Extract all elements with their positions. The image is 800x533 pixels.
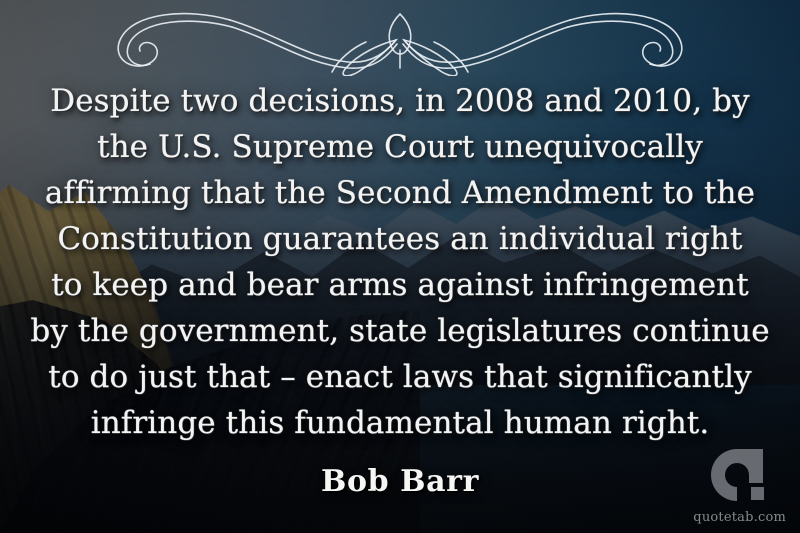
quote-author: Bob Barr bbox=[321, 464, 479, 499]
quote-line: Despite two decisions, in 2008 and 2010,… bbox=[20, 78, 780, 124]
quote-content: Despite two decisions, in 2008 and 2010,… bbox=[0, 0, 800, 533]
quote-line: to keep and bear arms against infringeme… bbox=[20, 262, 780, 308]
quote-line: Constitution guarantees an individual ri… bbox=[20, 216, 780, 262]
quote-image-canvas: Despite two decisions, in 2008 and 2010,… bbox=[0, 0, 800, 533]
quotetab-watermark[interactable]: quotetab.com bbox=[693, 447, 786, 525]
quote-line: infringe this fundamental human right. bbox=[20, 400, 780, 446]
quotetab-q-logo-icon bbox=[709, 447, 771, 509]
quote-line: the U.S. Supreme Court unequivocally bbox=[20, 124, 780, 170]
quote-line: to do just that – enact laws that signif… bbox=[20, 354, 780, 400]
flourish-divider-icon bbox=[80, 6, 720, 76]
quote-line: by the government, state legislatures co… bbox=[20, 308, 780, 354]
quote-text: Despite two decisions, in 2008 and 2010,… bbox=[20, 78, 780, 446]
watermark-domain-text: quotetab.com bbox=[693, 510, 786, 525]
quote-line: affirming that the Second Amendment to t… bbox=[20, 170, 780, 216]
